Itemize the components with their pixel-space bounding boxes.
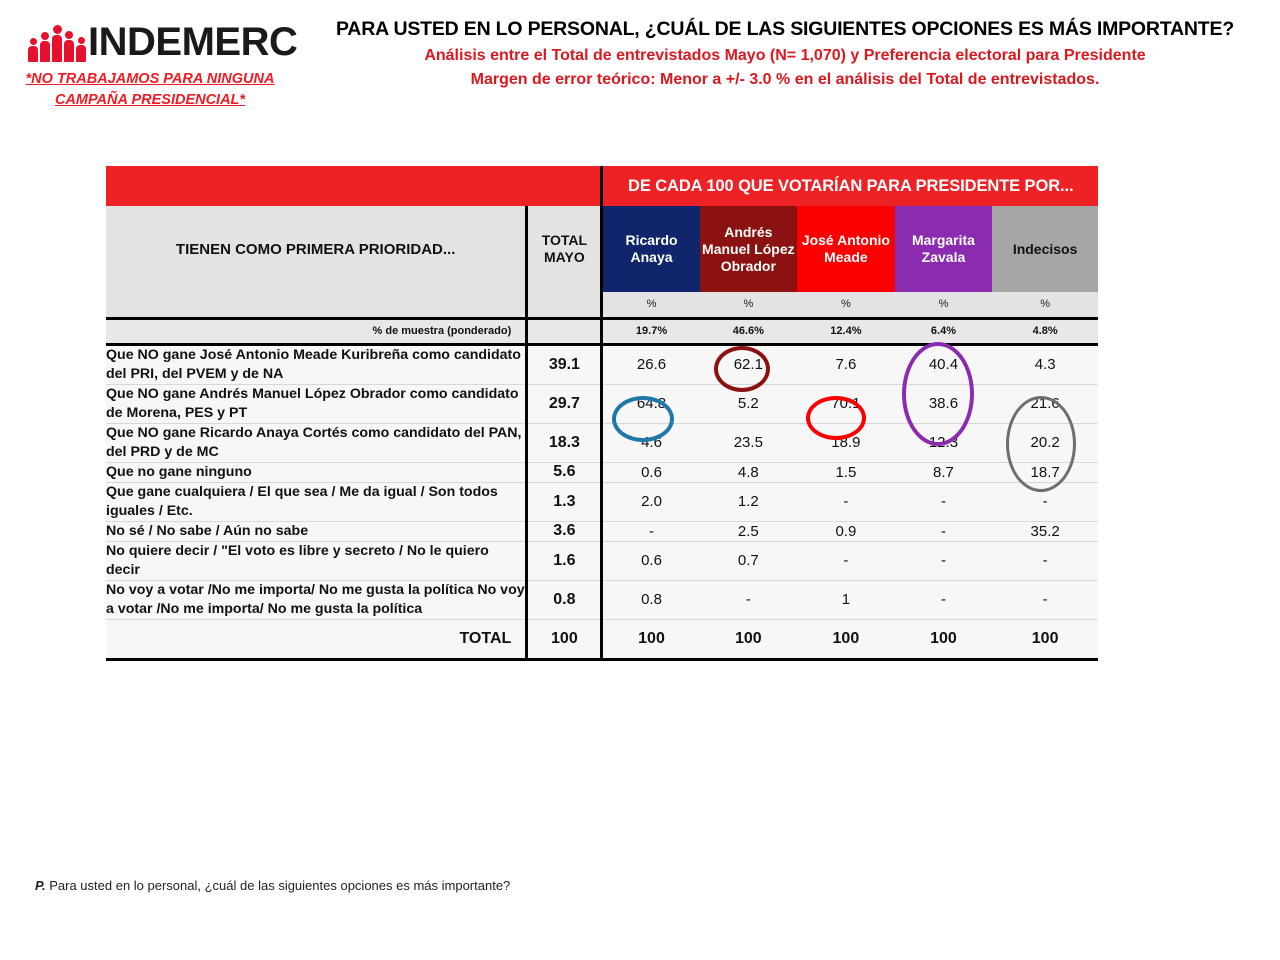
row-label: No quiere decir / "El voto es libre y se… [106,541,527,580]
cell-zavala: - [895,580,993,619]
cell-meade: 1 [797,580,895,619]
cell-meade: - [797,541,895,580]
sample-meade: 12.4% [797,318,895,344]
cell-anaya: - [602,521,700,541]
page-title: PARA USTED EN LO PERSONAL, ¿CUÁL DE LAS … [300,18,1270,41]
cell-anaya: 64.8 [602,384,700,423]
total-row-label: TOTAL [106,619,527,659]
cell-total: 1.3 [527,482,602,521]
row-label: Que NO gane Andrés Manuel López Obrador … [106,384,527,423]
cell-amlo: 1.2 [700,482,798,521]
cell-zavala: - [895,521,993,541]
cell-total: 0.8 [527,580,602,619]
cell-indecisos: 21.6 [992,384,1098,423]
cell-indecisos: - [992,580,1098,619]
sample-indecisos: 4.8% [992,318,1098,344]
cell-total: 5.6 [527,462,602,482]
cell-zavala: 12.3 [895,423,993,462]
cell-indecisos: 35.2 [992,521,1098,541]
logo-wordmark: INDEMERC [88,22,297,62]
logo-lockup: INDEMERC [0,14,300,62]
logo-disclaimer-line1: *NO TRABAJAMOS PARA NINGUNA [0,69,300,90]
cell-indecisos: 18.7 [992,462,1098,482]
table-row: No quiere decir / "El voto es libre y se… [106,541,1098,580]
cell-total: 18.3 [527,423,602,462]
cell-meade: 0.9 [797,521,895,541]
unit-row-spacer [106,292,527,318]
brand-logo: INDEMERC *NO TRABAJAMOS PARA NINGUNA CAM… [0,14,300,111]
row-label: Que gane cualquiera / El que sea / Me da… [106,482,527,521]
cell-zavala: 38.6 [895,384,993,423]
total-cell-total: 100 [527,619,602,659]
cell-anaya: 2.0 [602,482,700,521]
cell-amlo: 62.1 [700,344,798,384]
total-cell-indecisos: 100 [992,619,1098,659]
table-row: Que gane cualquiera / El que sea / Me da… [106,482,1098,521]
table-row: Que NO gane Andrés Manuel López Obrador … [106,384,1098,423]
logo-disclaimer: *NO TRABAJAMOS PARA NINGUNA CAMPAÑA PRES… [0,69,300,111]
cell-total: 1.6 [527,541,602,580]
banner-spacer [106,166,602,206]
unit-symbol-row: % % % % % [106,292,1098,318]
unit-meade: % [797,292,895,318]
header-titles: PARA USTED EN LO PERSONAL, ¿CUÁL DE LAS … [300,18,1270,89]
unit-total [527,292,602,318]
column-header-indecisos: Indecisos [992,206,1098,292]
cell-anaya: 0.6 [602,462,700,482]
sample-weight-row: % de muestra (ponderado) 19.7% 46.6% 12.… [106,318,1098,344]
total-cell-amlo: 100 [700,619,798,659]
row-label: No sé / No sabe / Aún no sabe [106,521,527,541]
subtitle-margin-error: Margen de error teórico: Menor a +/- 3.0… [300,71,1270,89]
cell-zavala: - [895,541,993,580]
total-cell-meade: 100 [797,619,895,659]
cell-indecisos: 4.3 [992,344,1098,384]
unit-zavala: % [895,292,993,318]
cell-amlo: - [700,580,798,619]
sample-zavala: 6.4% [895,318,993,344]
footnote-prefix: P. [35,878,46,893]
cell-amlo: 0.7 [700,541,798,580]
column-header-jose-antonio-meade: José Antonio Meade [797,206,895,292]
cell-anaya: 0.6 [602,541,700,580]
cell-meade: 1.5 [797,462,895,482]
footnote-text: Para usted en lo personal, ¿cuál de las … [49,878,510,893]
table-header-row: TIENEN COMO PRIMERA PRIORIDAD... TOTAL M… [106,206,1098,292]
row-label: Que NO gane José Antonio Meade Kuribreña… [106,344,527,384]
table-banner-row: DE CADA 100 QUE VOTARÍAN PARA PRESIDENTE… [106,166,1098,206]
table-row: Que NO gane José Antonio Meade Kuribreña… [106,344,1098,384]
cell-anaya: 4.6 [602,423,700,462]
table-total-row: TOTAL 100 100 100 100 100 100 [106,619,1098,659]
results-table: DE CADA 100 QUE VOTARÍAN PARA PRESIDENTE… [106,166,1098,661]
cell-amlo: 23.5 [700,423,798,462]
logo-disclaimer-line2: CAMPAÑA PRESIDENCIAL* [0,90,300,111]
cell-meade: 70.1 [797,384,895,423]
cell-zavala: 40.4 [895,344,993,384]
sample-row-label: % de muestra (ponderado) [106,318,527,344]
cell-amlo: 5.2 [700,384,798,423]
column-header-ricardo-anaya: Ricardo Anaya [602,206,700,292]
banner-title: DE CADA 100 QUE VOTARÍAN PARA PRESIDENTE… [602,166,1098,206]
cell-total: 3.6 [527,521,602,541]
total-label-line2: MAYO [544,249,585,265]
column-header-total: TOTAL MAYO [527,206,602,292]
row-label: No voy a votar /No me importa/ No me gus… [106,580,527,619]
cell-amlo: 2.5 [700,521,798,541]
cell-meade: 7.6 [797,344,895,384]
cell-total: 29.7 [527,384,602,423]
slide-canvas: INDEMERC *NO TRABAJAMOS PARA NINGUNA CAM… [0,0,1280,960]
row-label: Que NO gane Ricardo Anaya Cortés como ca… [106,423,527,462]
sample-amlo: 46.6% [700,318,798,344]
sample-total [527,318,602,344]
subtitle-sample: Análisis entre el Total de entrevistados… [300,47,1270,65]
total-cell-anaya: 100 [602,619,700,659]
table-row: Que no gane ninguno 5.6 0.6 4.8 1.5 8.7 … [106,462,1098,482]
cell-anaya: 0.8 [602,580,700,619]
table-row: No voy a votar /No me importa/ No me gus… [106,580,1098,619]
table-row: No sé / No sabe / Aún no sabe 3.6 - 2.5 … [106,521,1098,541]
row-label: Que no gane ninguno [106,462,527,482]
cell-indecisos: 20.2 [992,423,1098,462]
cell-anaya: 26.6 [602,344,700,384]
results-table-container: DE CADA 100 QUE VOTARÍAN PARA PRESIDENTE… [106,166,1098,661]
unit-anaya: % [602,292,700,318]
cell-zavala: 8.7 [895,462,993,482]
total-cell-zavala: 100 [895,619,993,659]
cell-meade: 18.9 [797,423,895,462]
total-label-line1: TOTAL [542,232,587,248]
cell-meade: - [797,482,895,521]
unit-indecisos: % [992,292,1098,318]
cell-indecisos: - [992,541,1098,580]
column-header-amlo: Andrés Manuel López Obrador [700,206,798,292]
sample-anaya: 19.7% [602,318,700,344]
footnote: P. Para usted en lo personal, ¿cuál de l… [35,878,510,893]
column-header-margarita-zavala: Margarita Zavala [895,206,993,292]
table-row: Que NO gane Ricardo Anaya Cortés como ca… [106,423,1098,462]
cell-zavala: - [895,482,993,521]
cell-amlo: 4.8 [700,462,798,482]
row-header-label: TIENEN COMO PRIMERA PRIORIDAD... [106,206,527,292]
people-group-icon [28,18,86,62]
unit-amlo: % [700,292,798,318]
cell-indecisos: - [992,482,1098,521]
cell-total: 39.1 [527,344,602,384]
